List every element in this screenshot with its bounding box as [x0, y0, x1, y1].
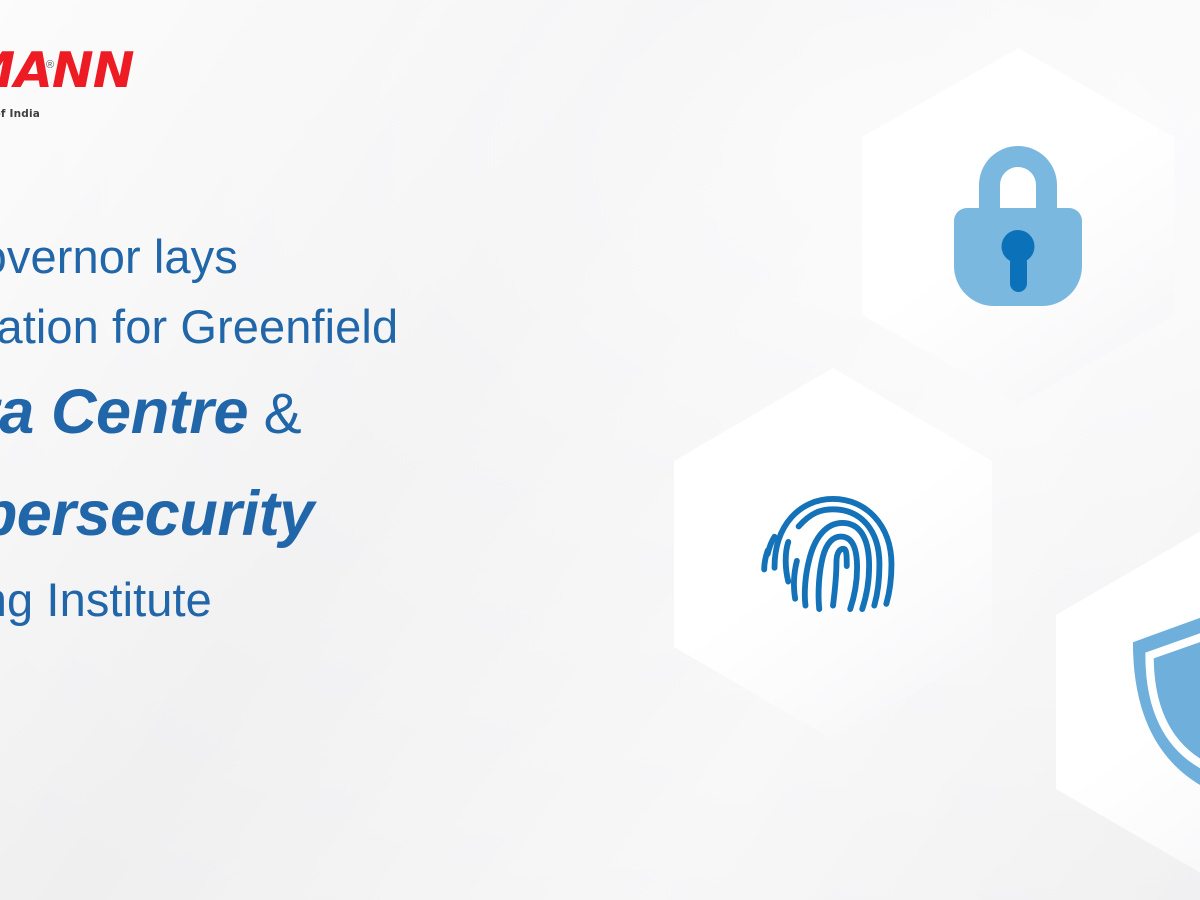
headline-block: Governor lays ndation for Greenfield ata…	[0, 222, 704, 635]
ampersand	[248, 382, 263, 446]
lock-keyhole-icon	[1002, 230, 1035, 263]
registered-trademark-icon: ®	[46, 59, 54, 71]
hexagon-tile-shield	[1056, 528, 1200, 876]
shield-icon	[1056, 528, 1200, 876]
hexagon-tile-lock	[862, 48, 1174, 404]
lock-icon	[862, 48, 1174, 404]
headline-line-3-text: ata Centre	[0, 377, 248, 447]
headline-line-2: ndation for Greenfield	[0, 292, 704, 362]
headline-line-1: Governor lays	[0, 222, 704, 292]
headline-line-3: ata Centre &	[0, 361, 704, 463]
brand-wordmark: XMANN	[0, 46, 132, 95]
fingerprint-icon	[674, 368, 992, 740]
headline-line-5: ning Institute	[0, 565, 704, 635]
headline-line-4: ybersecurity	[0, 463, 704, 565]
banner-canvas: XMANN ® rate Laws of India Governor lays…	[0, 0, 1200, 900]
brand-tagline: rate Laws of India	[0, 108, 40, 120]
brand-logo[interactable]: XMANN ® rate Laws of India	[0, 46, 128, 136]
hexagon-tile-fingerprint	[674, 368, 992, 740]
lock-body-icon	[954, 208, 1082, 306]
headline-ampersand: &	[264, 382, 302, 446]
